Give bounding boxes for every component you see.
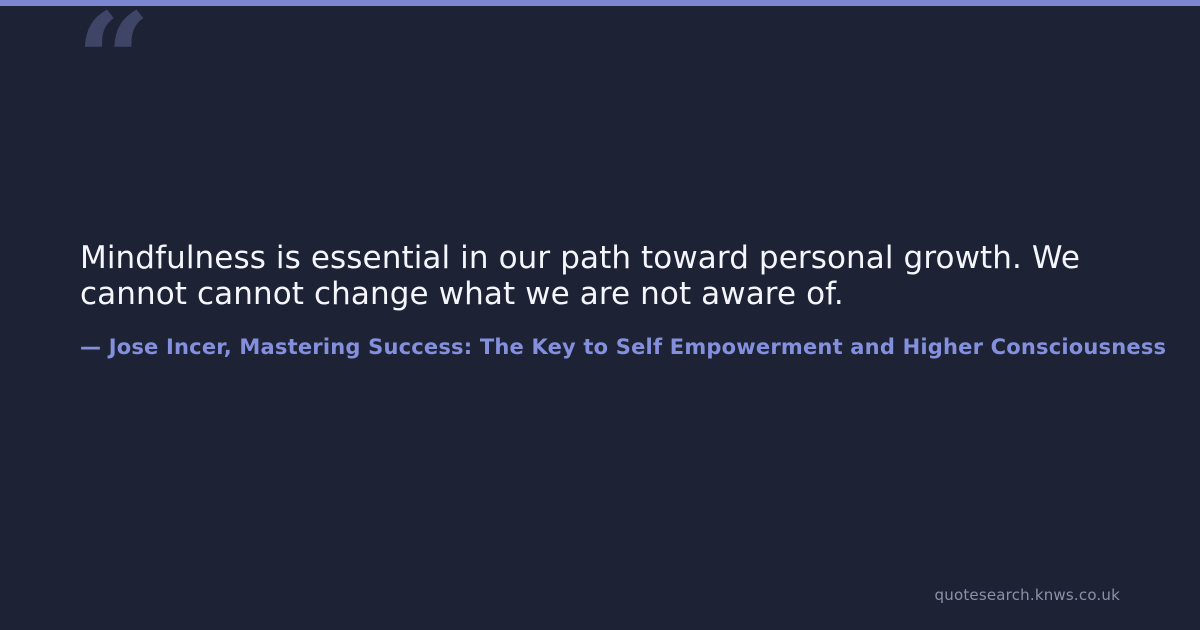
quote-content: Mindfulness is essential in our path tow… [80, 240, 1200, 360]
quote-text: Mindfulness is essential in our path tow… [80, 240, 1110, 312]
quote-mark-icon: “ [76, 0, 149, 126]
top-accent-bar [0, 0, 1200, 6]
quote-attribution: — Jose Incer, Mastering Success: The Key… [80, 334, 1200, 360]
quote-card: “ Mindfulness is essential in our path t… [0, 0, 1200, 630]
footer-site-url: quotesearch.knws.co.uk [935, 586, 1120, 604]
